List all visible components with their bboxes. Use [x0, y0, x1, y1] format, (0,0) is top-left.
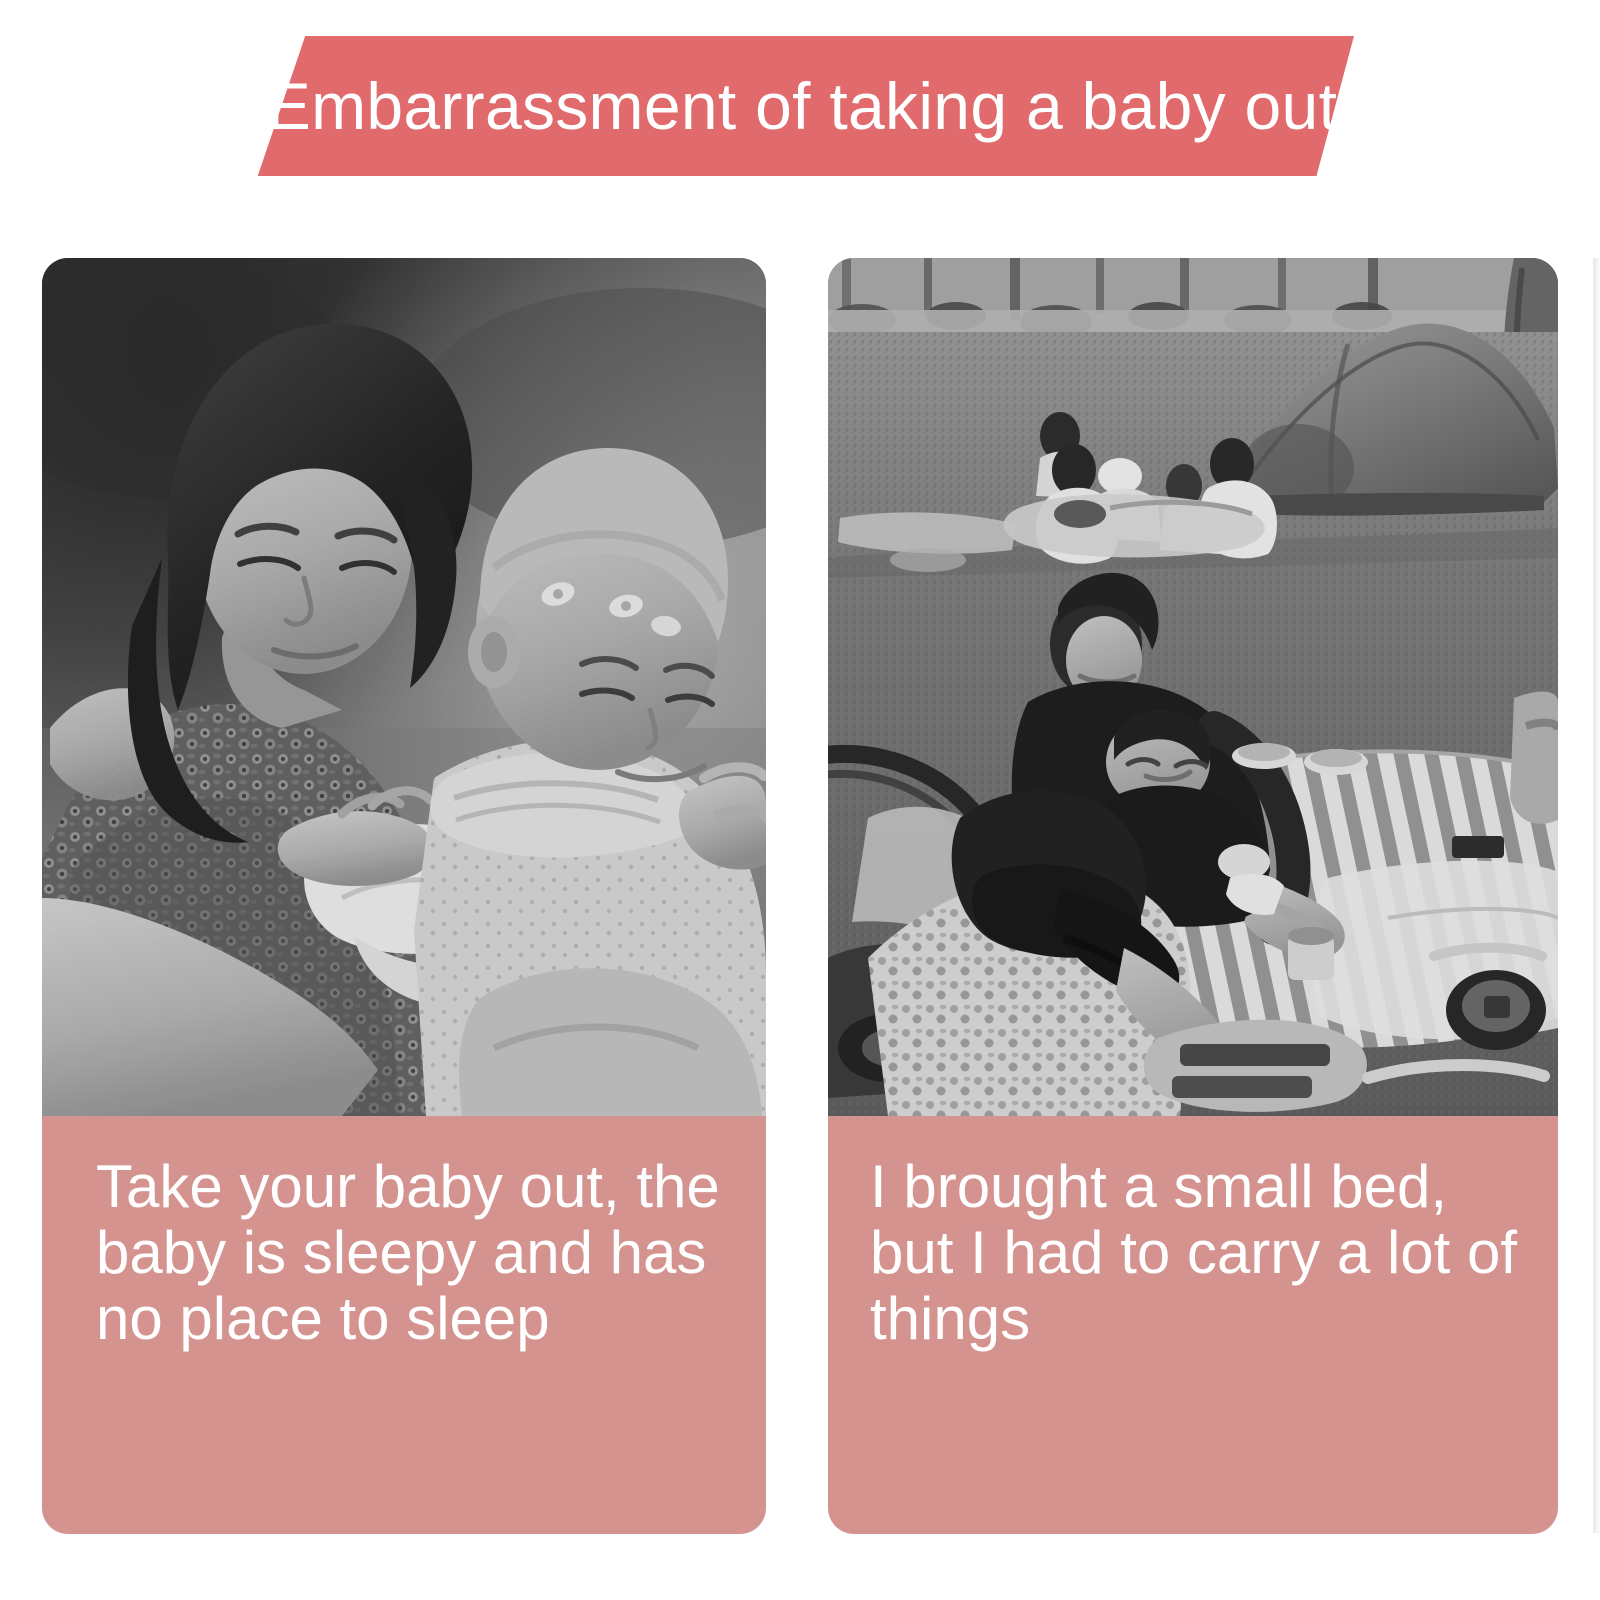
photo-mother-and-toddler [42, 258, 766, 1116]
panel-grid: Take your baby out, the baby is sleepy a… [0, 0, 1600, 1600]
caption-right: I brought a small bed, but I had to carr… [828, 1116, 1558, 1534]
card-left[interactable]: Take your baby out, the baby is sleepy a… [42, 258, 766, 1534]
edge-sliver [1593, 258, 1600, 1533]
photo-park-picnic [828, 258, 1558, 1116]
caption-left: Take your baby out, the baby is sleepy a… [42, 1116, 766, 1534]
card-right[interactable]: I brought a small bed, but I had to carr… [828, 258, 1558, 1534]
